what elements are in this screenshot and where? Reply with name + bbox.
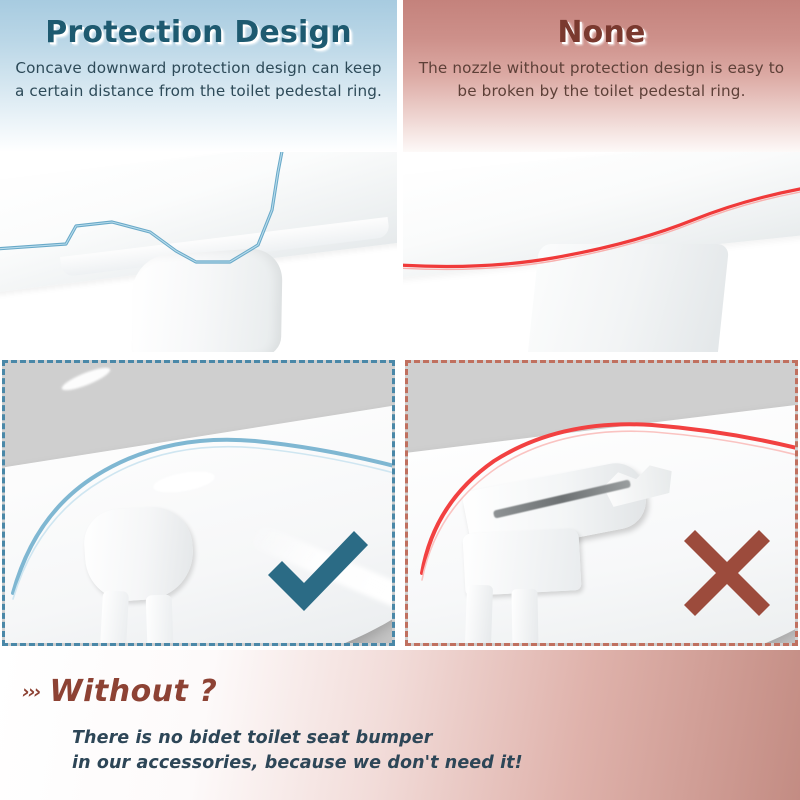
- without-body-line-1: There is no bidet toilet seat bumper: [72, 726, 523, 751]
- bottom-without-section: ››› Without ? There is no bidet toilet s…: [0, 650, 800, 800]
- infographic-page: Protection Design Concave downward prote…: [0, 0, 800, 800]
- without-body-text: There is no bidet toilet seat bumper in …: [72, 726, 523, 777]
- photo-protection-seat-edge: [0, 152, 397, 352]
- photo-nozzle-protected: [2, 360, 395, 646]
- photo-none-seat-edge: [403, 152, 800, 352]
- header-right-subtitle: The nozzle without protection design is …: [403, 57, 800, 103]
- header-none: None The nozzle without protection desig…: [403, 0, 800, 152]
- without-body-line-2: in our accessories, because we don't nee…: [72, 751, 523, 776]
- header-row: Protection Design Concave downward prote…: [0, 0, 800, 152]
- header-protection-design: Protection Design Concave downward prote…: [0, 0, 397, 152]
- chevrons-icon: ›››: [22, 681, 40, 703]
- blue-contour-outline: [0, 152, 397, 352]
- header-left-title: Protection Design: [0, 18, 397, 48]
- without-heading-row: ››› Without ?: [22, 674, 217, 709]
- header-left-subtitle: Concave downward protection design can k…: [0, 57, 397, 103]
- red-contour-outline: [403, 152, 800, 352]
- check-mark-icon: [262, 525, 374, 617]
- without-title: Without ?: [50, 674, 218, 709]
- x-mark-icon: [681, 527, 773, 619]
- photo-nozzle-broken: [405, 360, 798, 646]
- header-right-title: None: [403, 18, 800, 48]
